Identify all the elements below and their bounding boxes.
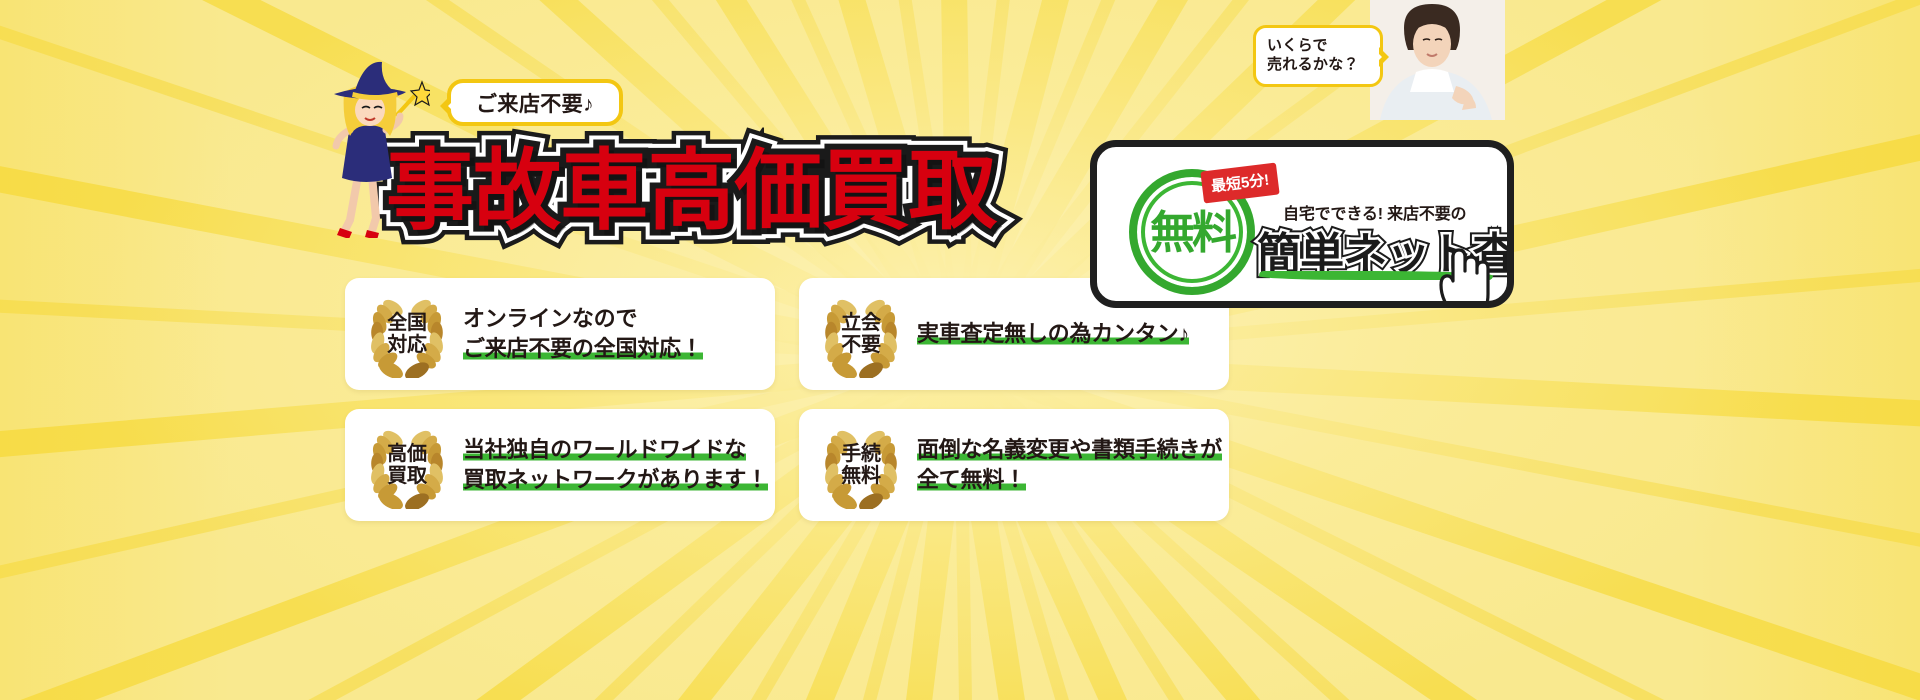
laurel-badge-line1: 立会 xyxy=(841,312,881,334)
feature-text-line2: ご来店不要の全国対応！ xyxy=(463,334,703,364)
laurel-badge-line1: 手続 xyxy=(841,443,881,465)
feature-text-line1: 当社独自のワールドワイドな xyxy=(463,435,768,465)
laurel-wreath-icon: 手続 無料 xyxy=(815,421,907,509)
laurel-badge-line2: 不要 xyxy=(841,334,881,356)
bubble-left-text: ご来店不要♪ xyxy=(476,88,594,118)
feature-text-line1: 面倒な名義変更や書類手続きが xyxy=(917,435,1222,465)
bubble-no-visit-needed: ご来店不要♪ xyxy=(447,79,623,126)
headline-fill: 事故車高価買取 xyxy=(386,147,996,235)
free-stamp-text: 無料 xyxy=(1150,210,1234,255)
hero-banner: ご来店不要♪ いくらで 売れるかな？ 事故車高価買取 事故車高価買取 事故車高価… xyxy=(0,0,1920,700)
feature-card-text: オンラインなのでご来店不要の全国対応！ xyxy=(453,304,703,365)
feature-card: 手続 無料 面倒な名義変更や書類手続きが全て無料！ xyxy=(799,409,1229,521)
laurel-wreath-icon: 全国 対応 xyxy=(361,290,453,378)
feature-card-text: 実車査定無しの為カンタン♪ xyxy=(907,319,1189,349)
laurel-badge-label: 手続 無料 xyxy=(841,443,881,488)
laurel-badge-label: 高価 買取 xyxy=(387,443,427,488)
free-net-appraisal-button[interactable]: 無料 最短5分! 自宅でできる! 来店不要の 簡単ネット査定 簡単ネット査定 xyxy=(1090,140,1514,308)
laurel-wreath-icon: 立会 不要 xyxy=(815,290,907,378)
bubble-how-much-can-i-sell: いくらで 売れるかな？ xyxy=(1253,25,1383,87)
feature-card-text: 当社独自のワールドワイドな買取ネットワークがあります！ xyxy=(453,435,768,496)
laurel-badge-line1: 高価 xyxy=(387,443,427,465)
feature-card: 高価 買取 当社独自のワールドワイドな買取ネットワークがあります！ xyxy=(345,409,775,521)
bubble-right-line1: いくらで xyxy=(1267,36,1380,55)
feature-card: 全国 対応 オンラインなのでご来店不要の全国対応！ xyxy=(345,278,775,390)
feature-card-text: 面倒な名義変更や書類手続きが全て無料！ xyxy=(907,435,1222,496)
bubble-right-line2: 売れるかな？ xyxy=(1267,55,1380,74)
feature-text-line2: 買取ネットワークがあります！ xyxy=(463,465,768,495)
fastest-5-min-ribbon: 最短5分! xyxy=(1200,162,1280,203)
laurel-badge-line2: 無料 xyxy=(841,465,881,487)
pointing-hand-icon xyxy=(1429,235,1491,308)
feature-text-line1: オンラインなので xyxy=(463,304,703,334)
witch-mascot-illustration xyxy=(310,58,430,238)
feature-card-grid: 全国 対応 オンラインなのでご来店不要の全国対応！ 立会 不要 実車査定無しの為… xyxy=(345,278,1229,521)
laurel-badge-line2: 買取 xyxy=(387,465,427,487)
feature-text-line2: 全て無料！ xyxy=(917,465,1222,495)
laurel-badge-label: 全国 対応 xyxy=(387,312,427,357)
laurel-badge-line1: 全国 xyxy=(387,312,427,334)
laurel-badge-label: 立会 不要 xyxy=(841,312,881,357)
laurel-wreath-icon: 高価 買取 xyxy=(361,421,453,509)
laurel-badge-line2: 対応 xyxy=(387,334,427,356)
feature-text-line1: 実車査定無しの為カンタン♪ xyxy=(917,319,1189,349)
